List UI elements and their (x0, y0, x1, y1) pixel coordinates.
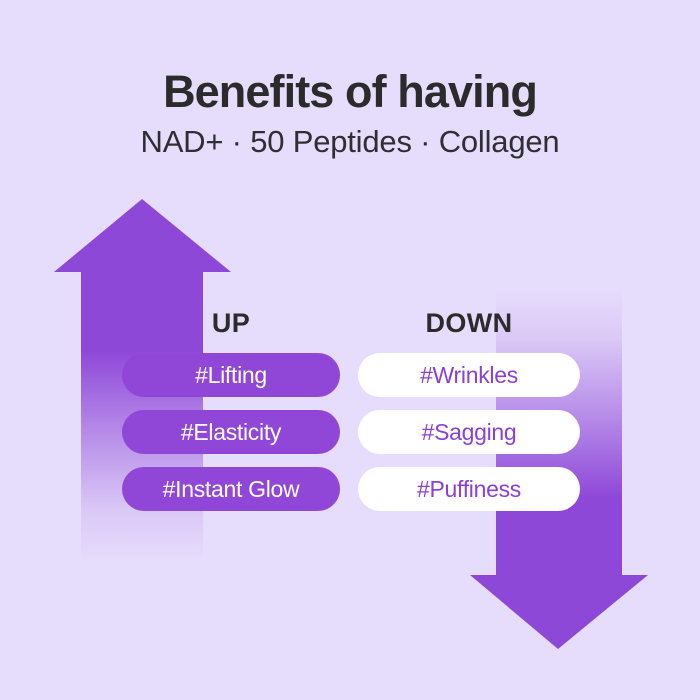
infographic-canvas: Benefits of having NAD+ · 50 Peptides · … (0, 0, 700, 700)
column-header-down: DOWN (358, 308, 580, 339)
benefit-pill-up: #Elasticity (122, 410, 340, 454)
benefit-pill-up: #Lifting (122, 353, 340, 397)
benefit-pill-down: #Puffiness (358, 467, 580, 511)
page-title: Benefits of having (0, 68, 700, 117)
page-subtitle: NAD+ · 50 Peptides · Collagen (0, 123, 700, 162)
heading-block: Benefits of having NAD+ · 50 Peptides · … (0, 68, 700, 161)
benefit-pill-down: #Sagging (358, 410, 580, 454)
benefit-pill-down: #Wrinkles (358, 353, 580, 397)
column-header-up: UP (122, 308, 340, 339)
benefit-pill-up: #Instant Glow (122, 467, 340, 511)
